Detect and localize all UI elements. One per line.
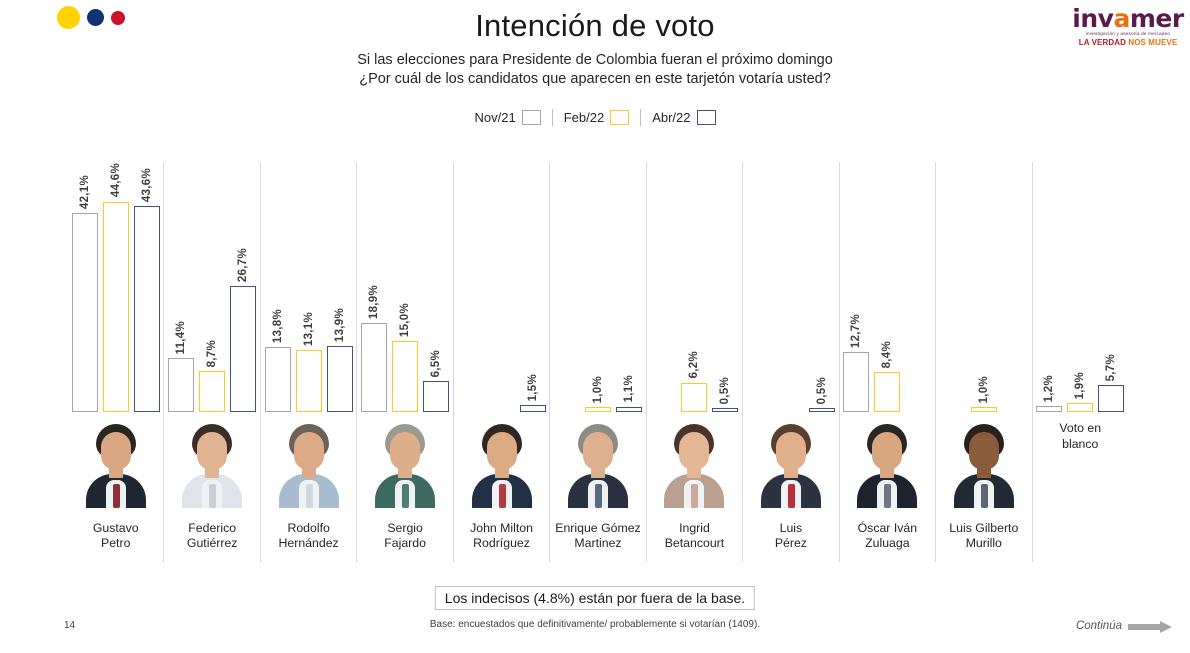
bar-slot-nov-21: 42,1% [72,162,98,412]
bar-slot-abr-22: 5,7% [1098,162,1124,412]
bar-value-label: 8,7% [206,340,218,367]
bar[interactable] [1036,406,1062,412]
bar-value-label: 15,0% [399,303,411,337]
portrait-area [357,412,452,508]
bar[interactable] [809,408,835,412]
candidate-name: Luis Gilberto Murillo [949,521,1018,551]
bar-value-label: 0,5% [816,377,828,404]
candidate-photo [369,420,441,508]
portrait-area [164,412,259,508]
bar-slot-abr-22: 26,7% [230,162,256,412]
bar-slot-abr-22: 0,5% [809,162,835,412]
bar-group: 18,9%15,0%6,5% [357,162,452,412]
bar[interactable] [327,346,353,412]
bar[interactable] [585,407,611,412]
bar-value-label: 13,8% [272,309,284,343]
bar-group: 42,1%44,6%43,6% [68,162,163,412]
portrait-area [454,412,549,508]
candidate-name: Rodolfo Hernández [279,521,339,551]
bar-value-label: 5,7% [1105,354,1117,381]
bar-group: 11,4%8,7%26,7% [164,162,259,412]
candidate-photo [755,420,827,508]
bar-value-label: 13,9% [334,308,346,342]
candidate-photo [466,420,538,508]
logo-motto-part-2: NOS MUEVE [1128,38,1177,47]
legend-label: Abr/22 [652,110,690,125]
bar-slot-abr-22: 13,9% [327,162,353,412]
undecided-note-box: Los indecisos (4.8%) están por fuera de … [435,586,755,610]
bar-slot-feb-22: 44,6% [103,162,129,412]
bar[interactable] [616,407,642,412]
bar[interactable] [103,202,129,413]
candidate-photo [948,420,1020,508]
bar-value-label: 42,1% [79,175,91,209]
bar-value-label: 1,0% [592,376,604,403]
bar-slot-abr-22 [1002,162,1028,412]
candidate-name: Gustavo Petro [93,521,139,551]
candidate-name: Enrique Gómez Martinez [555,521,640,551]
invamer-logo: invamer investigación y asesoría de merc… [1072,6,1184,47]
bar[interactable] [681,383,707,412]
page-number: 14 [64,620,75,631]
continue-label: Continúa [1076,620,1122,632]
bar-slot-nov-21: 1,2% [1036,162,1062,412]
continue-indicator: Continúa [1076,620,1172,632]
legend-label: Nov/21 [475,110,516,125]
bar[interactable] [520,405,546,412]
bar-slot-feb-22: 8,4% [874,162,900,412]
candidate-name: Ingrid Betancourt [665,521,724,551]
base-note: Base: encuestados que definitivamente/ p… [0,619,1190,630]
bar-group: 1,0% [936,162,1031,412]
portrait-area [261,412,356,508]
bar-group: 1,5% [454,162,549,412]
portrait-area [647,412,742,508]
candidate-name: Sergio Fajardo [384,521,426,551]
bar-group: 1,0%1,1% [550,162,645,412]
logo-word-pre: inv [1072,4,1113,33]
candidate-photo [658,420,730,508]
bar-slot-nov-21: 13,8% [265,162,291,412]
bar-value-label: 8,4% [881,341,893,368]
candidate-column-4: 18,9%15,0%6,5%Sergio Fajardo [357,162,453,562]
bar[interactable] [361,323,387,412]
bar-slot-abr-22: 1,5% [520,162,546,412]
bar[interactable] [72,213,98,412]
bar-value-label: 44,6% [110,163,122,197]
subtitle-line-1: Si las elecciones para Presidente de Col… [0,51,1190,70]
bar-group: 6,2%0,5% [647,162,742,412]
blank-vote-label: Voto en blanco [1059,420,1101,452]
bar-slot-feb-22 [489,162,515,412]
bar-value-label: 11,4% [175,321,187,354]
bar[interactable] [168,358,194,412]
bar-value-label: 1,0% [978,376,990,403]
chart-legend: Nov/21Feb/22Abr/22 [0,109,1190,126]
candidate-column-9: 12,7%8,4%Óscar Iván Zuluaga [840,162,936,562]
bar-slot-nov-21 [554,162,580,412]
legend-swatch-icon [697,110,716,125]
candidate-column-7: 6,2%0,5%Ingrid Betancourt [647,162,743,562]
bar-chart-plot-area: 42,1%44,6%43,6%Gustavo Petro11,4%8,7%26,… [68,162,1128,562]
portrait-area [936,412,1031,508]
candidate-name: Óscar Iván Zuluaga [858,521,917,551]
candidate-column-10: 1,0%Luis Gilberto Murillo [936,162,1032,562]
candidate-photo [562,420,634,508]
bar-value-label: 26,7% [237,248,249,282]
candidate-column-11: 1,2%1,9%5,7%Voto en blanco [1033,162,1128,562]
bar[interactable] [712,408,738,412]
portrait-area: Voto en blanco [1033,412,1128,512]
candidate-column-2: 11,4%8,7%26,7%Federico Gutiérrez [164,162,260,562]
bar-slot-nov-21 [940,162,966,412]
bar-slot-nov-21: 12,7% [843,162,869,412]
candidate-name-area: Ingrid Betancourt [647,508,742,562]
bar-slot-abr-22: 1,1% [616,162,642,412]
candidate-name: Luis Pérez [775,521,807,551]
legend-item-abr-22[interactable]: Abr/22 [641,110,726,125]
bar[interactable] [971,407,997,412]
candidate-column-6: 1,0%1,1%Enrique Gómez Martinez [550,162,646,562]
candidate-column-5: 1,5%John Milton Rodríguez [454,162,550,562]
bar-value-label: 6,5% [430,350,442,377]
bar-value-label: 0,5% [719,377,731,404]
bar-group: 1,2%1,9%5,7% [1033,162,1128,412]
legend-label: Feb/22 [564,110,604,125]
bar[interactable] [1067,403,1093,412]
candidate-name-area: Rodolfo Hernández [261,508,356,562]
candidate-name-area: Óscar Iván Zuluaga [840,508,935,562]
bar-group: 13,8%13,1%13,9% [261,162,356,412]
bar-value-label: 1,2% [1043,375,1055,402]
logo-motto: LA VERDAD NOS MUEVE [1072,39,1184,47]
bar-slot-feb-22: 8,7% [199,162,225,412]
bar[interactable] [843,352,869,412]
bar-slot-abr-22: 43,6% [134,162,160,412]
bar[interactable] [1098,385,1124,412]
bar-slot-nov-21 [747,162,773,412]
bar-slot-feb-22: 13,1% [296,162,322,412]
bar-value-label: 1,1% [623,375,635,402]
bar-value-label: 1,5% [527,374,539,401]
bar-slot-nov-21: 11,4% [168,162,194,412]
subtitle-line-2: ¿Por cuál de los candidatos que aparecen… [0,70,1190,89]
portrait-area [743,412,838,508]
bar[interactable] [134,206,160,412]
logo-wordmark: invamer [1072,6,1183,31]
bar-value-label: 12,7% [850,314,862,348]
bar[interactable] [230,286,256,412]
bar-group: 12,7%8,4% [840,162,935,412]
candidate-name-area: John Milton Rodríguez [454,508,549,562]
logo-word-post: mer [1130,4,1184,33]
legend-swatch-icon [522,110,541,125]
bar-value-label: 43,6% [141,168,153,202]
candidate-photo [851,420,923,508]
page-title: Intención de voto [0,0,1190,44]
bar[interactable] [874,372,900,412]
portrait-area [68,412,163,508]
legend-item-feb-22[interactable]: Feb/22 [553,110,640,125]
bar-value-label: 6,2% [688,351,700,378]
chart-subtitle: Si las elecciones para Presidente de Col… [0,51,1190,89]
bar-slot-feb-22 [778,162,804,412]
portrait-area [550,412,645,508]
bar[interactable] [265,347,291,412]
bar-slot-feb-22: 1,9% [1067,162,1093,412]
bar-value-label: 18,9% [368,285,380,319]
candidate-name-area: Gustavo Petro [68,508,163,562]
candidate-name-area: Federico Gutiérrez [164,508,259,562]
bar-slot-nov-21 [650,162,676,412]
candidate-column-3: 13,8%13,1%13,9%Rodolfo Hernández [261,162,357,562]
bar-slot-nov-21 [458,162,484,412]
bar-slot-feb-22: 6,2% [681,162,707,412]
arrow-right-icon [1128,621,1172,632]
bar[interactable] [392,341,418,412]
candidate-name: Federico Gutiérrez [187,521,238,551]
bar[interactable] [296,350,322,412]
candidate-photo [80,420,152,508]
bar-slot-abr-22: 0,5% [712,162,738,412]
bar[interactable] [199,371,225,412]
bar-group: 0,5% [743,162,838,412]
bar-slot-abr-22 [905,162,931,412]
legend-item-nov-21[interactable]: Nov/21 [464,110,552,125]
bar-slot-feb-22: 1,0% [971,162,997,412]
legend-swatch-icon [610,110,629,125]
bar-value-label: 1,9% [1074,372,1086,399]
bar-slot-feb-22: 1,0% [585,162,611,412]
bar-slot-abr-22: 6,5% [423,162,449,412]
logo-star-icon: a [1113,4,1129,33]
candidate-column-8: 0,5%Luis Pérez [743,162,839,562]
candidate-photo [176,420,248,508]
candidate-name-area: Luis Pérez [743,508,838,562]
candidate-name-area: Luis Gilberto Murillo [936,508,1031,562]
bar[interactable] [423,381,449,412]
candidate-column-1: 42,1%44,6%43,6%Gustavo Petro [68,162,164,562]
candidate-photo [273,420,345,508]
candidate-name-area: Sergio Fajardo [357,508,452,562]
bar-slot-feb-22: 15,0% [392,162,418,412]
chart-header: Intención de voto Si las elecciones para… [0,0,1190,89]
candidate-name-area: Enrique Gómez Martinez [550,508,645,562]
logo-motto-part-1: LA VERDAD [1079,38,1126,47]
portrait-area [840,412,935,508]
candidate-name: John Milton Rodríguez [470,521,533,551]
bar-value-label: 13,1% [303,312,315,346]
candidate-name-area [1033,512,1128,562]
bar-slot-nov-21: 18,9% [361,162,387,412]
